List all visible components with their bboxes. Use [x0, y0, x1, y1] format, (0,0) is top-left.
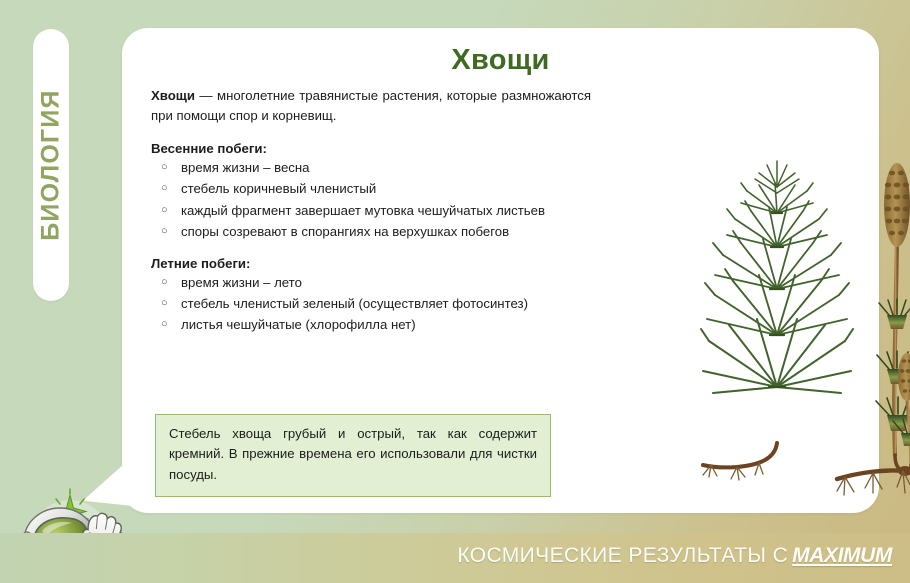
- list-item-text: споры созревают в спорангиях на верхушка…: [181, 224, 509, 239]
- section-heading-spring: Весенние побеги:: [151, 141, 591, 156]
- bullet-list-summer: ○ время жизни – лето ○ стебель членистый…: [151, 273, 591, 336]
- bullet-circle-icon: ○: [161, 222, 168, 241]
- fact-callout-box: Стебель хвоща грубый и острый, так как с…: [155, 414, 551, 497]
- list-item-text: время жизни – лето: [181, 275, 302, 290]
- slide-root: БИОЛОГИЯ Хвощи Хвощи — многолетние травя…: [0, 0, 910, 583]
- list-item-text: время жизни – весна: [181, 160, 310, 175]
- horsetail-plant-illustration: [697, 143, 910, 508]
- list-item: ○ листья чешуйчатые (хлорофилла нет): [151, 315, 591, 335]
- bullet-circle-icon: ○: [161, 294, 168, 313]
- section-spring: Весенние побеги: ○ время жизни – весна ○…: [151, 141, 591, 242]
- bullet-circle-icon: ○: [161, 179, 168, 198]
- list-item: ○ стебель коричневый членистый: [151, 179, 591, 199]
- brand-logo-maximum: MAXIMUM: [792, 544, 892, 567]
- list-item-text: стебель коричневый членистый: [181, 181, 376, 196]
- list-item: ○ время жизни – весна: [151, 158, 591, 178]
- bullet-list-spring: ○ время жизни – весна ○ стебель коричнев…: [151, 158, 591, 242]
- page-title: Хвощи: [122, 44, 879, 77]
- intro-definition: — многолетние травянистые растения, кото…: [151, 88, 591, 123]
- content-body: Хвощи — многолетние травянистые растения…: [151, 86, 591, 349]
- subject-tab-label: БИОЛОГИЯ: [37, 89, 66, 240]
- list-item: ○ каждый фрагмент завершает мутовка чешу…: [151, 201, 591, 221]
- list-item: ○ время жизни – лето: [151, 273, 591, 293]
- bullet-circle-icon: ○: [161, 201, 168, 220]
- list-item-text: листья чешуйчатые (хлорофилла нет): [181, 317, 416, 332]
- list-item: ○ стебель членистый зеленый (осуществляе…: [151, 294, 591, 314]
- bullet-circle-icon: ○: [161, 273, 168, 292]
- list-item-text: каждый фрагмент завершает мутовка чешуйч…: [181, 203, 545, 218]
- intro-term: Хвощи: [151, 88, 195, 103]
- section-heading-summer: Летние побеги:: [151, 256, 591, 271]
- list-item-text: стебель членистый зеленый (осуществляет …: [181, 296, 528, 311]
- bullet-circle-icon: ○: [161, 315, 168, 334]
- bullet-circle-icon: ○: [161, 158, 168, 177]
- section-summer: Летние побеги: ○ время жизни – лето ○ ст…: [151, 256, 591, 336]
- footer-bar: КОСМИЧЕСКИЕ РЕЗУЛЬТАТЫ СMAXIMUM: [0, 533, 910, 583]
- footer-tagline-text: КОСМИЧЕСКИЕ РЕЗУЛЬТАТЫ С: [457, 544, 788, 567]
- intro-paragraph: Хвощи — многолетние травянистые растения…: [151, 86, 591, 126]
- list-item: ○ споры созревают в спорангиях на верхуш…: [151, 222, 591, 242]
- fact-callout-text: Стебель хвоща грубый и острый, так как с…: [169, 424, 537, 485]
- footer-tagline: КОСМИЧЕСКИЕ РЕЗУЛЬТАТЫ СMAXIMUM: [457, 544, 892, 568]
- subject-tab[interactable]: БИОЛОГИЯ: [33, 29, 69, 301]
